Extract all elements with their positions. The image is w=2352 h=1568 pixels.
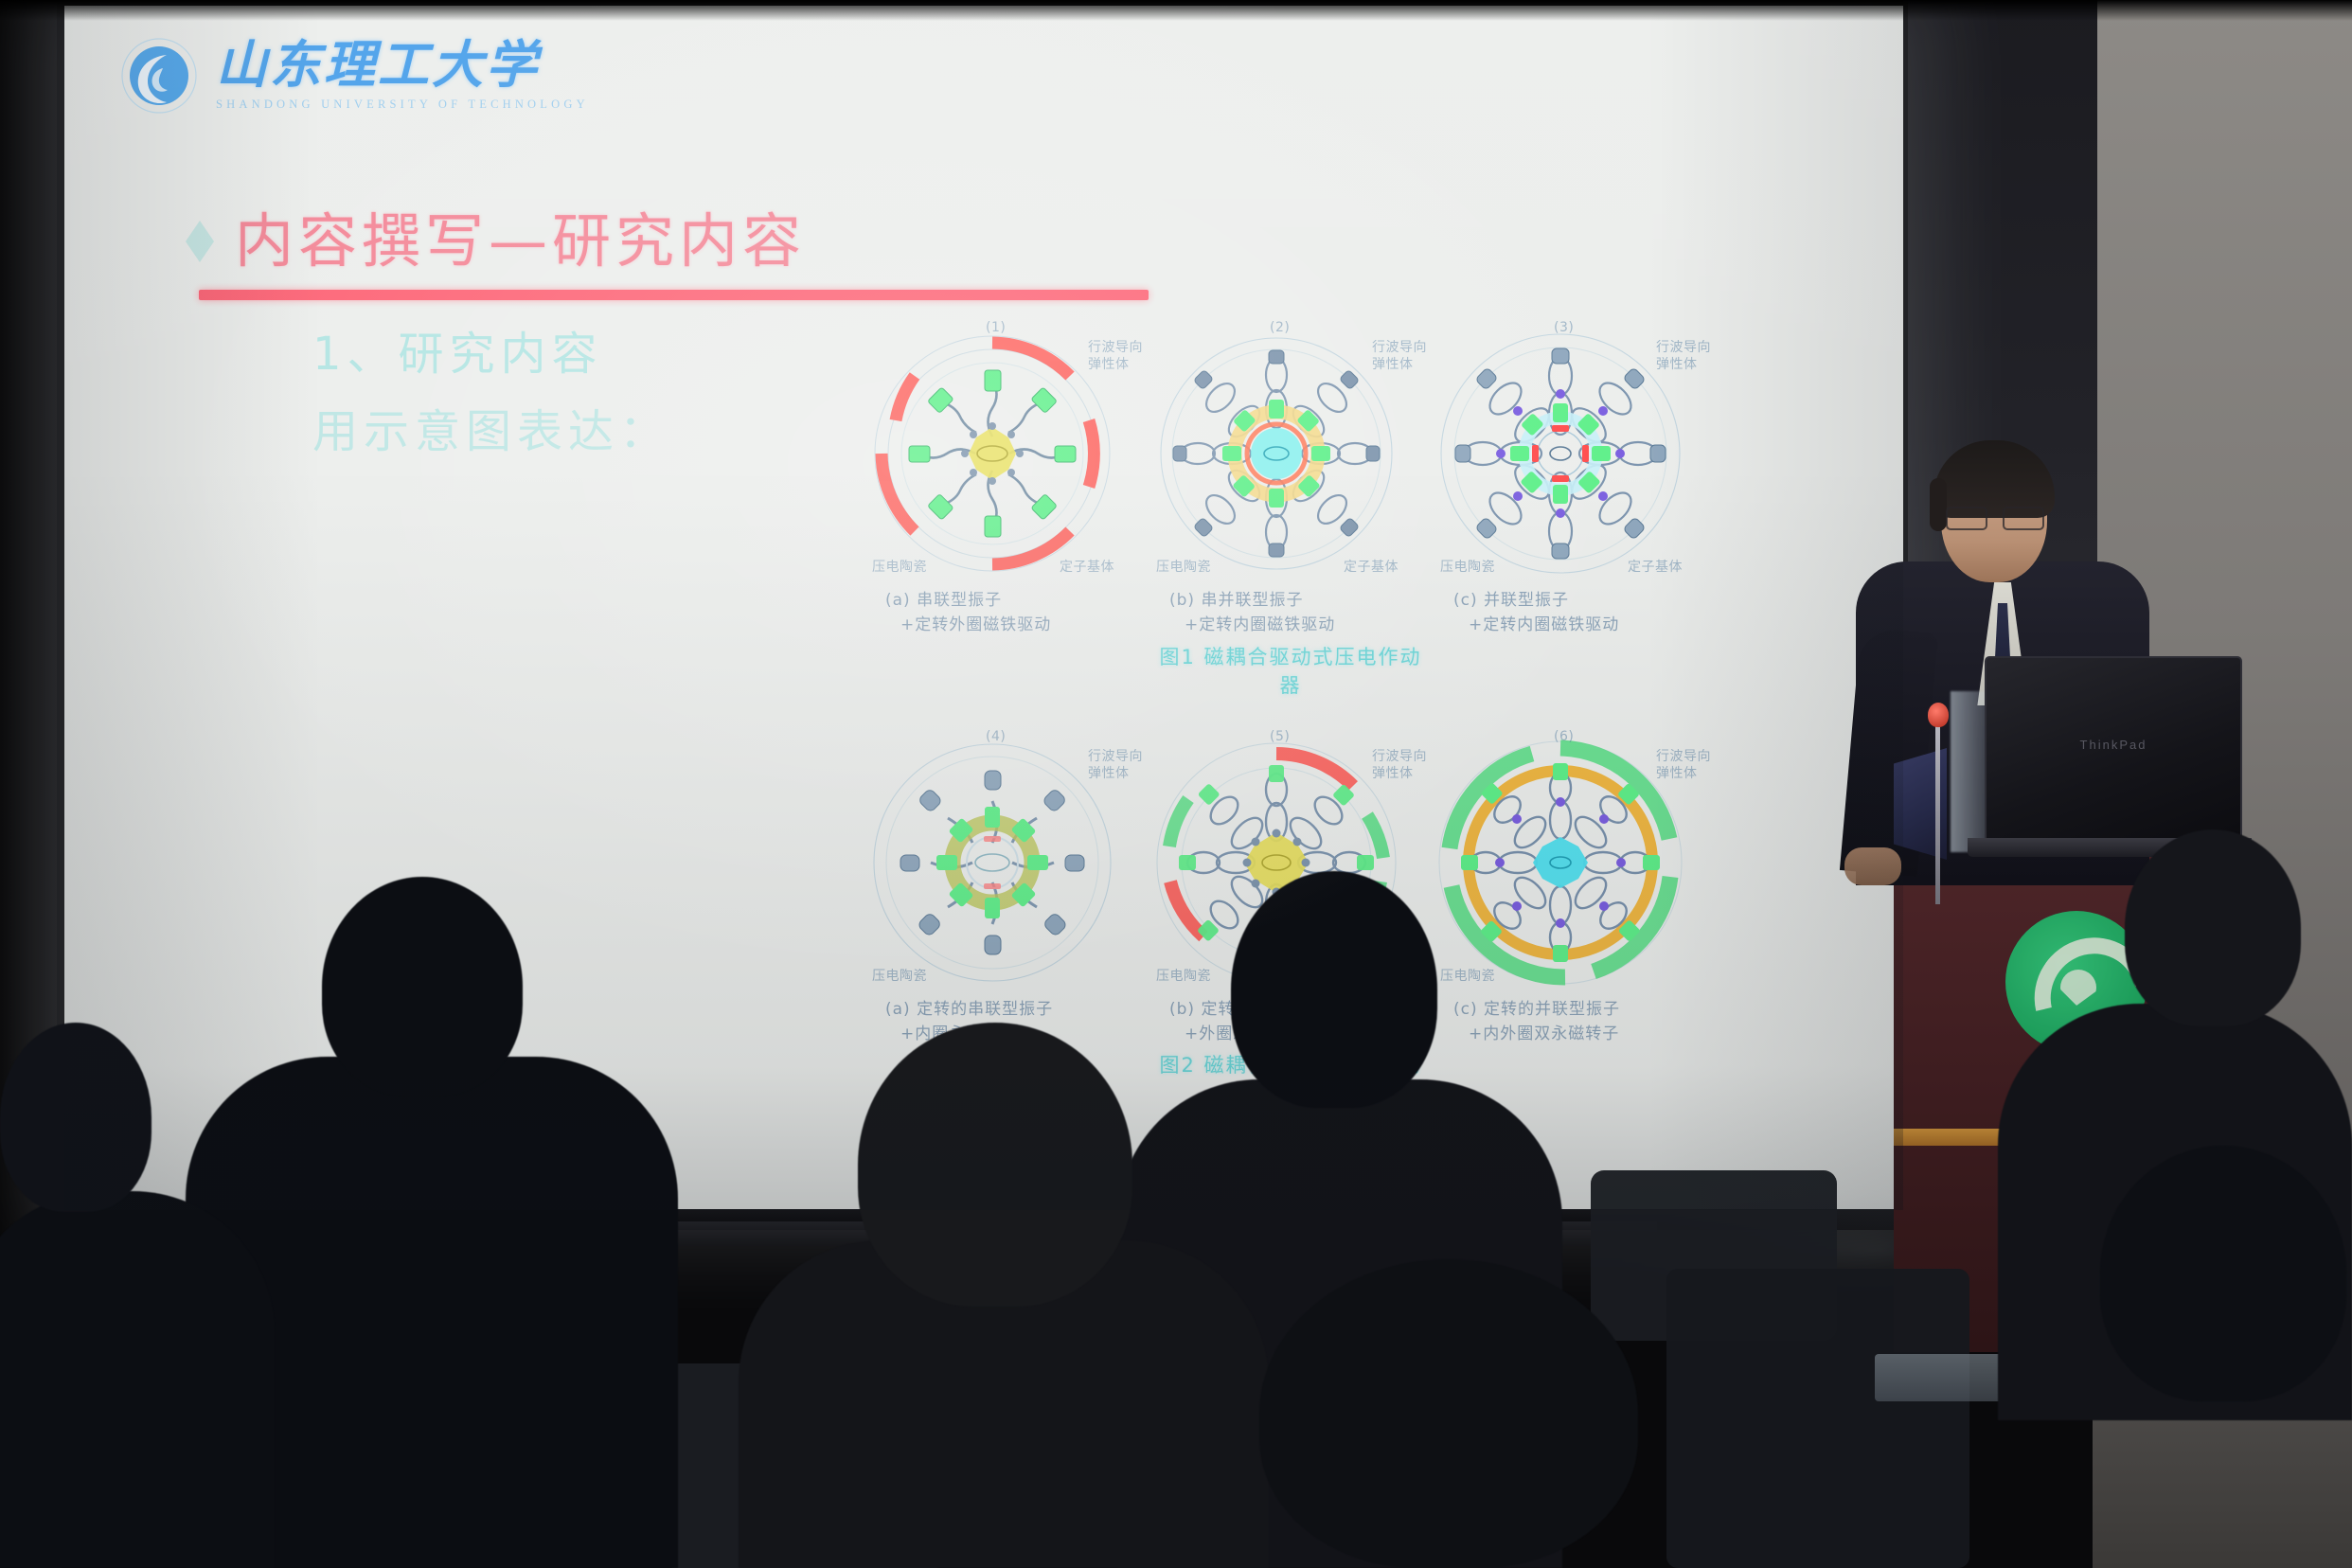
subtitle-line-2: 用示意图表达： <box>312 394 670 460</box>
glasses-icon <box>1944 507 2046 527</box>
figure-1-title: 图1 磁耦合驱动式压电作动器 <box>1149 642 1433 699</box>
fig-2b-label-right: 行波导向 弹性体 <box>1372 748 1438 782</box>
diagram-2c <box>1433 735 1688 990</box>
diagram-1a <box>864 326 1120 581</box>
fig-1c-label-bl: 压电陶瓷 <box>1440 557 1495 576</box>
fig-1b-label-top: (2) <box>1270 320 1290 335</box>
university-logo: 山东理工大学 SHANDONG UNIVERSITY OF TECHNOLOGY <box>119 36 589 116</box>
presenter-hand <box>1844 847 1901 885</box>
ceiling-shadow <box>0 0 2352 21</box>
figure-caption-1b: (b) 串并联型振子 +定转内圈磁铁驱动 <box>1149 588 1433 638</box>
audience-member-2-head <box>858 1023 1132 1307</box>
subtitle-line-1: 1、研究内容 <box>312 316 603 383</box>
audience-member-1-head <box>322 877 523 1096</box>
fig-1c-label-br: 定子基体 <box>1628 557 1683 576</box>
figure-cell-2c: (6) 行波导向 弹性体 压电陶瓷 <box>1433 735 1717 1108</box>
figure-caption-2c: (c) 定转的并联型振子 +内外圈双永磁转子 <box>1433 997 1717 1047</box>
figure-cell-1a: (1) 行波导向 弹性体 压电陶瓷 定子基体 <box>864 326 1149 699</box>
fig-1a-label-right: 行波导向 弹性体 <box>1088 339 1154 373</box>
fig-2b-label-top: (5) <box>1270 729 1290 744</box>
figure-caption-1a: (a) 串联型振子 +定转外圈磁铁驱动 <box>864 588 1149 638</box>
figure-cell-1c: (3) 行波导向 弹性体 压电陶瓷 定子基体 <box>1433 326 1717 699</box>
chair-right <box>1666 1269 1969 1568</box>
fig-1c-label-right: 行波导向 弹性体 <box>1656 339 1722 373</box>
fig-1c-label-top: (3) <box>1554 320 1574 335</box>
microphone-stand <box>1935 720 1940 904</box>
microphone-icon <box>1928 703 1949 727</box>
fig-2a-label-right: 行波导向 弹性体 <box>1088 748 1154 782</box>
fig-1a-label-top: (1) <box>986 320 1006 335</box>
diagram-1c <box>1433 326 1688 581</box>
figure-caption-1c: (c) 并联型振子 +定转内圈磁铁驱动 <box>1433 588 1717 638</box>
audience-member-5-body <box>0 1191 275 1568</box>
university-name-cn: 山东理工大学 <box>216 40 589 91</box>
diamond-bullet-icon <box>186 221 214 262</box>
page-title: 内容撰写—研究内容 <box>235 212 806 271</box>
audience-member-3-head <box>1231 871 1437 1108</box>
fig-2a-label-top: (4) <box>986 729 1006 744</box>
laptop-brand-label: ThinkPad <box>2080 738 2147 752</box>
fig-1b-label-br: 定子基体 <box>1344 557 1399 576</box>
fig-2c-label-bl: 压电陶瓷 <box>1440 966 1495 985</box>
title-underline <box>199 290 1149 300</box>
figure-cell-1b: (2) 行波导向 弹性体 压电陶瓷 定子基体 <box>1149 326 1433 699</box>
slide-title-row: 内容撰写—研究内容 <box>186 212 806 271</box>
lecture-hall-scene: 山东理工大学 SHANDONG UNIVERSITY OF TECHNOLOGY… <box>0 0 2352 1568</box>
fig-2c-label-top: (6) <box>1554 729 1574 744</box>
fig-2a-label-bl: 压电陶瓷 <box>872 966 927 985</box>
audience-member-5-head <box>0 1023 151 1212</box>
audience-member-7-head <box>2100 1146 2346 1401</box>
fig-1a-label-br: 定子基体 <box>1060 557 1114 576</box>
fig-1a-label-bl: 压电陶瓷 <box>872 557 927 576</box>
fig-1b-label-bl: 压电陶瓷 <box>1156 557 1211 576</box>
swirl-logo-icon <box>119 36 199 116</box>
audience-member-6-head <box>2125 829 2301 1026</box>
fig-2c-label-right: 行波导向 弹性体 <box>1656 748 1722 782</box>
audience-member-4-head <box>1259 1259 1638 1568</box>
laptop-lid: ThinkPad <box>1985 656 2242 843</box>
university-name-en: SHANDONG UNIVERSITY OF TECHNOLOGY <box>216 98 589 112</box>
fig-1b-label-right: 行波导向 弹性体 <box>1372 339 1438 373</box>
diagram-2a <box>864 735 1120 990</box>
figure-row-1: (1) 行波导向 弹性体 压电陶瓷 定子基体 <box>864 326 1764 699</box>
fig-2b-label-bl: 压电陶瓷 <box>1156 966 1211 985</box>
diagram-1b <box>1149 326 1404 581</box>
